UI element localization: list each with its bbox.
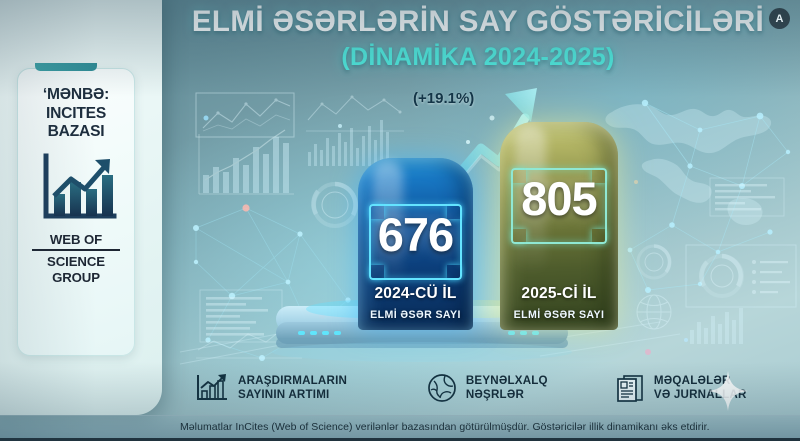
watermark-badge: A — [769, 8, 790, 29]
title-block: ELMİ ƏSƏRLƏRİN SAY GÖSTƏRİCİLƏRİ (DİNAMİ… — [178, 5, 778, 72]
growth-percentage-badge: (+19.1%) — [413, 90, 474, 107]
feature-line-1: ARAŞDIRMALARIN — [238, 374, 347, 388]
source-title: ‘MƏNBƏ: INCITES BAZASI — [24, 86, 128, 142]
feature-line-2: SAYININ ARTIMI — [238, 388, 347, 402]
hud-bar-trend-chart — [199, 130, 294, 194]
chart-growth-icon — [195, 373, 229, 403]
brand-line-1: WEB OF — [32, 232, 120, 248]
footer-note: Məlumatlar InCites (Web of Science) veri… — [180, 421, 710, 433]
brand-divider — [32, 249, 120, 251]
card-tab-accent — [35, 63, 97, 71]
bar-value-2025: 805 — [500, 171, 618, 226]
bar-chart-growth-icon — [33, 151, 119, 225]
bar-column-2024: 676 2024-CÜ İL ELMİ ƏSƏR SAYI — [358, 158, 473, 330]
feature-item-research-growth: ARAŞDIRMALARIN SAYININ ARTIMI — [195, 373, 419, 403]
brand-line-2: SCIENCE — [32, 254, 120, 270]
brand-name: WEB OF SCIENCE GROUP — [32, 232, 120, 286]
hud-text-panel-right — [710, 178, 784, 216]
page-subtitle: (DİNAMİKA 2024-2025) — [178, 43, 778, 72]
bar-caption-2024: ELMİ ƏSƏR SAYI — [358, 309, 473, 321]
brand-line-3: GROUP — [32, 270, 120, 286]
hud-line-chart-panel — [196, 93, 294, 137]
sparkle-icon — [708, 371, 748, 411]
feature-item-journals: MƏQALƏLƏR VƏ JURNALLAR — [615, 373, 795, 403]
hud-gauge-icon — [638, 246, 670, 278]
wireframe-globe-graphic — [637, 295, 671, 329]
infographic-canvas: A ELMİ ƏSƏRLƏRİN SAY GÖSTƏRİCİLƏRİ (DİNA… — [0, 0, 800, 441]
hud-mini-bars-right — [690, 308, 743, 344]
documents-icon — [615, 373, 645, 403]
feature-label-research-growth: ARAŞDIRMALARIN SAYININ ARTIMI — [238, 374, 347, 402]
hud-dashboard-right — [686, 245, 796, 307]
hud-donut-chart-left — [313, 184, 356, 226]
source-logo-card: ‘MƏNBƏ: INCITES BAZASI WEB OF SCIENC — [17, 68, 135, 356]
hud-scatter-chart — [306, 96, 404, 132]
feature-line-2: NƏŞRLƏR — [466, 388, 548, 402]
bar-column-2025: 805 2025-Cİ İL ELMİ ƏSƏR SAYI — [500, 122, 618, 330]
bar-value-2024: 676 — [358, 207, 473, 262]
feature-label-international: BEYNƏLXALQ NƏŞRLƏR — [466, 374, 548, 402]
footer-bar: Məlumatlar InCites (Web of Science) veri… — [0, 415, 800, 441]
bar-year-2025: 2025-Cİ İL — [500, 285, 618, 303]
bar-caption-2025: ELMİ ƏSƏR SAYI — [500, 309, 618, 321]
feature-line-1: BEYNƏLXALQ — [466, 374, 548, 388]
bar-year-2024: 2024-CÜ İL — [358, 285, 473, 303]
feature-item-international: BEYNƏLXALQ NƏŞRLƏR — [427, 373, 607, 403]
feature-row: ARAŞDIRMALARIN SAYININ ARTIMI BEYNƏLXALQ… — [195, 366, 795, 410]
globe-icon — [427, 373, 457, 403]
hud-text-panel-left — [200, 290, 282, 342]
page-title: ELMİ ƏSƏRLƏRİN SAY GÖSTƏRİCİLƏRİ — [178, 5, 778, 39]
watermark-label: A — [776, 13, 784, 25]
source-panel: ‘MƏNBƏ: INCITES BAZASI WEB OF SCIENC — [0, 0, 162, 415]
